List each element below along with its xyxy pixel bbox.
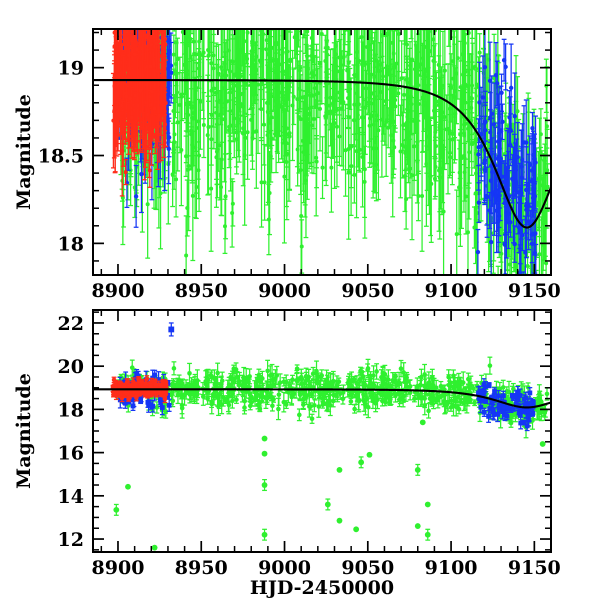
data-point xyxy=(380,33,384,37)
data-point xyxy=(146,202,150,206)
data-point xyxy=(178,103,182,107)
data-point xyxy=(361,155,365,159)
data-point xyxy=(408,167,412,171)
data-point xyxy=(527,219,531,223)
data-point xyxy=(196,119,200,123)
data-point xyxy=(393,104,397,108)
data-point xyxy=(173,94,177,98)
data-point xyxy=(202,123,206,127)
data-point xyxy=(231,60,235,64)
data-point xyxy=(227,125,231,129)
data-point xyxy=(492,122,496,126)
data-point xyxy=(134,194,138,198)
data-point xyxy=(490,170,494,174)
data-point xyxy=(458,171,462,175)
data-point xyxy=(427,29,431,33)
data-point xyxy=(352,173,356,177)
data-point xyxy=(497,147,501,151)
data-point xyxy=(391,139,395,143)
data-point xyxy=(233,72,237,76)
data-point xyxy=(513,168,517,172)
data-point xyxy=(206,125,210,129)
data-point xyxy=(332,93,336,97)
data-point xyxy=(262,123,266,127)
data-point xyxy=(176,120,180,124)
data-point xyxy=(526,264,530,268)
data-point xyxy=(537,252,541,256)
data-point xyxy=(171,148,175,152)
data-point xyxy=(268,191,272,195)
data-point xyxy=(429,182,433,186)
data-point xyxy=(468,96,472,100)
data-point xyxy=(334,43,338,47)
data-point xyxy=(399,149,403,153)
data-point xyxy=(455,232,459,236)
data-point xyxy=(231,202,235,206)
data-point xyxy=(389,133,393,137)
data-point xyxy=(524,140,528,144)
data-point xyxy=(253,82,257,86)
data-point xyxy=(263,180,267,184)
data-point xyxy=(472,141,476,145)
data-point xyxy=(503,65,507,69)
data-point xyxy=(505,175,509,179)
data-point xyxy=(184,253,188,257)
data-point xyxy=(287,132,291,136)
data-point xyxy=(337,135,341,139)
data-point xyxy=(292,95,296,99)
data-point xyxy=(210,113,214,117)
data-point xyxy=(174,177,178,181)
data-point xyxy=(167,50,171,54)
data-point xyxy=(230,211,234,215)
data-point xyxy=(209,187,213,191)
data-point xyxy=(312,117,316,121)
data-point xyxy=(536,202,540,206)
data-point xyxy=(376,128,380,132)
data-point xyxy=(360,115,364,119)
data-point xyxy=(243,153,247,157)
data-point xyxy=(333,121,337,125)
data-point xyxy=(483,65,487,69)
data-point xyxy=(385,64,389,68)
data-point xyxy=(237,104,241,108)
data-point xyxy=(478,51,482,55)
data-point xyxy=(296,148,300,152)
data-point xyxy=(369,114,373,118)
data-point xyxy=(459,85,463,89)
data-point xyxy=(494,73,498,77)
data-point xyxy=(499,91,503,95)
data-point xyxy=(419,62,423,66)
data-point xyxy=(451,132,455,136)
data-point xyxy=(187,164,191,168)
data-point xyxy=(282,175,286,179)
top-data-layer xyxy=(93,27,551,277)
data-point xyxy=(329,166,333,170)
data-point xyxy=(337,91,341,95)
data-point xyxy=(215,147,219,151)
data-point xyxy=(384,120,388,124)
data-point xyxy=(464,122,468,126)
data-point xyxy=(340,88,344,92)
data-point xyxy=(265,38,269,42)
data-point xyxy=(223,224,227,228)
data-point xyxy=(266,110,270,114)
data-point xyxy=(500,120,504,124)
data-point xyxy=(367,100,371,104)
data-point xyxy=(224,194,228,198)
data-point xyxy=(409,102,413,106)
data-point xyxy=(437,63,441,67)
data-point xyxy=(401,123,405,127)
data-point xyxy=(245,57,249,61)
data-point xyxy=(520,158,524,162)
data-point xyxy=(483,119,487,123)
data-point xyxy=(456,56,460,60)
data-point xyxy=(301,95,305,99)
data-point xyxy=(285,126,289,130)
data-point xyxy=(497,197,501,201)
data-point xyxy=(167,147,171,151)
data-point xyxy=(390,41,394,45)
data-point xyxy=(421,56,425,60)
data-point xyxy=(443,115,447,119)
data-point xyxy=(416,194,420,198)
data-point xyxy=(402,93,406,97)
data-point xyxy=(524,201,528,205)
data-point xyxy=(344,148,348,152)
data-point xyxy=(507,115,511,119)
data-point xyxy=(539,177,543,181)
data-point xyxy=(274,42,278,46)
data-point xyxy=(396,91,400,95)
data-point xyxy=(275,100,279,104)
data-point xyxy=(180,95,184,99)
data-point xyxy=(282,108,286,112)
data-point xyxy=(415,160,419,164)
data-point xyxy=(420,194,424,198)
data-point xyxy=(374,163,378,167)
plot-canvas: 1818.519890089509000905091009150 1214161… xyxy=(0,0,600,600)
data-point xyxy=(363,167,367,171)
data-point xyxy=(335,125,339,129)
data-point xyxy=(315,160,319,164)
data-point xyxy=(489,112,493,116)
data-point xyxy=(288,59,292,63)
data-point xyxy=(513,114,517,118)
data-point xyxy=(357,102,361,106)
data-point xyxy=(185,206,189,210)
data-point xyxy=(249,118,253,122)
data-point xyxy=(516,190,520,194)
data-point xyxy=(477,200,481,204)
data-point xyxy=(392,64,396,68)
data-point xyxy=(446,127,450,131)
data-point xyxy=(404,197,408,201)
data-point xyxy=(530,126,534,130)
data-point xyxy=(453,89,457,93)
data-point xyxy=(354,74,358,78)
data-point xyxy=(513,242,517,246)
data-point xyxy=(355,149,359,153)
data-point xyxy=(541,221,545,225)
data-point xyxy=(474,191,478,195)
data-point xyxy=(305,69,309,73)
data-point xyxy=(476,250,480,254)
data-point xyxy=(202,51,206,55)
data-point xyxy=(270,94,274,98)
data-point xyxy=(479,144,483,148)
top-panel: 1818.519890089509000905091009150 xyxy=(38,27,561,302)
lightcurve-figure: 1818.519890089509000905091009150 1214161… xyxy=(0,0,600,600)
data-point xyxy=(349,164,353,168)
data-point xyxy=(407,98,411,102)
data-point xyxy=(449,86,453,90)
data-point xyxy=(467,150,471,154)
data-point xyxy=(211,66,215,70)
data-point xyxy=(310,71,314,75)
data-point xyxy=(326,46,330,50)
data-point xyxy=(477,100,481,104)
data-point xyxy=(489,240,493,244)
data-point xyxy=(191,194,195,198)
data-point xyxy=(259,60,263,64)
data-point xyxy=(544,261,548,265)
data-point xyxy=(531,153,535,157)
data-point xyxy=(434,144,438,148)
data-point xyxy=(218,143,222,147)
data-point xyxy=(139,172,143,176)
data-point xyxy=(250,65,254,69)
data-point xyxy=(294,33,298,37)
data-point xyxy=(523,250,527,254)
data-point xyxy=(545,124,549,128)
data-point xyxy=(298,66,302,70)
data-point xyxy=(545,168,549,172)
data-point xyxy=(321,166,325,170)
data-point xyxy=(303,152,307,156)
data-point xyxy=(206,133,210,137)
data-point xyxy=(316,91,320,95)
data-point xyxy=(440,170,444,174)
data-point xyxy=(299,214,303,218)
data-point xyxy=(267,218,271,222)
data-point xyxy=(188,37,192,41)
data-point xyxy=(482,161,486,165)
data-point xyxy=(329,96,333,100)
data-point xyxy=(485,194,489,198)
data-point xyxy=(458,186,462,190)
data-point xyxy=(192,111,196,115)
data-point xyxy=(372,123,376,127)
data-point xyxy=(509,86,513,90)
data-point xyxy=(305,146,309,150)
data-point xyxy=(318,62,322,66)
